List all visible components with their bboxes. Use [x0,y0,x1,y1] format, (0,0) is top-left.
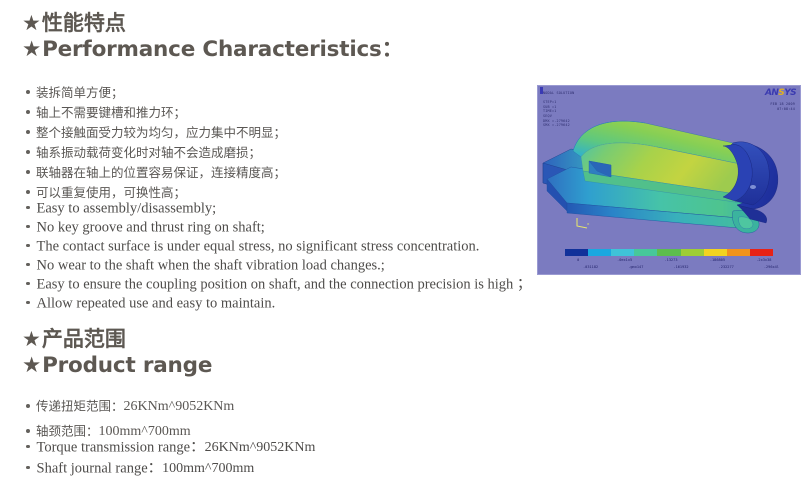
performance-heading-cn-text: 性能特点 [42,11,126,35]
fea-legend-labels-bottom: .031182.gmx147.161932.232277.296x4l [568,265,794,271]
spec-label: Torque transmission range： [37,440,205,456]
list-item: No wear to the shaft when the shaft vibr… [26,256,531,275]
legend-tick-bottom-2: .161932 [658,265,703,271]
bullet-dot-icon [26,150,30,154]
spec-value: 26KNm^9052KNm [205,440,316,455]
star-icon: ★ [22,327,41,351]
spec-value: 26KNm^9052KNm [124,399,235,414]
performance-heading-en-text: Performance Characteristics： [42,37,403,62]
list-item: Easy to assembly/disassembly; [26,199,531,218]
legend-tick-top-3: .186805 [694,258,740,264]
list-item-text: 整个接触面受力较为均匀，应力集中不明显； [36,125,286,140]
performance-bullets-cn: 装拆简单方便； 轴上不需要键槽和推力环； 整个接触面受力较为均匀，应力集中不明显… [26,82,286,202]
list-item-text: 轴上不需要键槽和推力环； [36,105,186,120]
star-icon: ★ [22,353,41,378]
ansys-fea-image: NODAL SOLUTION STEP=1 SUB =1 TIME=1 SEQV… [537,85,801,275]
bullet-dot-icon [26,190,30,194]
ansys-logo-part1: AN [765,88,778,98]
legend-tick-bottom-0: .031182 [568,265,613,271]
list-item-text: The contact surface is under equal stres… [37,238,480,254]
spec-value: 100mm^700mm [162,461,254,476]
legend-tick-top-2: .13273 [648,258,694,264]
legend-swatch-8 [750,249,773,256]
bullet-dot-icon [26,263,30,267]
product-range-specs-en: Torque transmission range：26KNm^9052KNm … [26,437,315,479]
product-range-heading-cn-text: 产品范围 [42,327,126,351]
list-item-text: 联轴器在轴上的位置容易保证，连接精度高； [36,165,286,180]
star-icon: ★ [22,37,41,62]
fea-axis-triad-icon: x [574,216,592,230]
legend-tick-bottom-1: .gmx147 [613,265,658,271]
spec-label: 传递扭矩范围： [36,399,124,414]
list-item: Allow repeated use and easy to maintain. [26,294,531,313]
list-item-text: 轴系振动载荷变化时对轴不会造成磨损； [36,145,261,160]
product-range-heading-cn: ★产品范围 [22,326,212,352]
legend-tick-bottom-3: .232277 [704,265,749,271]
legend-tick-bottom-4: .296x4l [749,265,794,271]
legend-tick-top-1: .0ex1x5 [601,258,647,264]
list-item: The contact surface is under equal stres… [26,237,531,256]
performance-bullets-en: Easy to assembly/disassembly; No key gro… [26,199,531,313]
star-icon: ★ [22,11,41,35]
svg-text:x: x [587,223,590,227]
legend-swatch-0 [565,249,588,256]
legend-swatch-1 [588,249,611,256]
list-item: 轴上不需要键槽和推力环； [26,102,286,122]
bullet-dot-icon [26,282,30,286]
product-range-heading-en-text: Product range [42,353,212,378]
list-item-text: Easy to ensure the coupling position on … [37,276,532,292]
legend-swatch-7 [727,249,750,256]
bullet-dot-icon [26,130,30,134]
bullet-dot-icon [26,90,30,94]
list-item: Easy to ensure the coupling position on … [26,275,531,294]
list-item: 轴系振动载荷变化时对轴不会造成磨损； [26,142,286,162]
ansys-logo-part3: YS [784,88,796,98]
performance-heading-block: ★性能特点 ★Performance Characteristics： [22,10,403,64]
bullet-dot-icon [26,110,30,114]
list-item-text: 可以重复使用，可换性高； [36,185,186,200]
list-item-text: No wear to the shaft when the shaft vibr… [37,257,385,273]
legend-tick-top-4: .2x3x38 [741,258,787,264]
spec-label: Shaft journal range： [37,461,163,477]
list-item-text: Allow repeated use and easy to maintain. [37,295,276,311]
list-item: 联轴器在轴上的位置容易保证，连接精度高； [26,162,286,182]
list-item-text: Easy to assembly/disassembly; [37,200,217,216]
list-item: 整个接触面受力较为均匀，应力集中不明显； [26,122,286,142]
list-item-text: 装拆简单方便； [36,85,124,100]
list-item: No key groove and thrust ring on shaft; [26,218,531,237]
bullet-dot-icon [26,429,30,433]
list-item-text: No key groove and thrust ring on shaft; [37,219,265,235]
performance-heading-cn: ★性能特点 [22,10,403,36]
bullet-dot-icon [26,301,30,305]
legend-tick-top-0: 0 [555,258,601,264]
bullet-dot-icon [26,466,30,470]
legend-swatch-5 [681,249,704,256]
legend-swatch-4 [657,249,680,256]
bullet-dot-icon [26,170,30,174]
bullet-dot-icon [26,225,30,229]
bullet-dot-icon [26,206,30,210]
fea-legend-labels-top: 0.0ex1x5.13273.186805.2x3x38 [555,258,787,264]
product-range-heading-block: ★产品范围 ★Product range [22,326,212,380]
list-item: 传递扭矩范围：26KNm^9052KNm [26,394,234,419]
performance-heading-en: ★Performance Characteristics： [22,36,403,64]
list-item: 装拆简单方便； [26,82,286,102]
bullet-dot-icon [26,244,30,248]
bullet-dot-icon [26,445,30,449]
fea-color-legend [565,249,773,256]
bullet-dot-icon [26,404,30,408]
list-item: Torque transmission range：26KNm^9052KNm [26,437,315,458]
legend-swatch-2 [611,249,634,256]
legend-swatch-6 [704,249,727,256]
list-item: Shaft journal range：100mm^700mm [26,458,315,479]
product-range-heading-en: ★Product range [22,352,212,380]
ansys-logo: ANSYS [765,88,796,98]
legend-swatch-3 [634,249,657,256]
